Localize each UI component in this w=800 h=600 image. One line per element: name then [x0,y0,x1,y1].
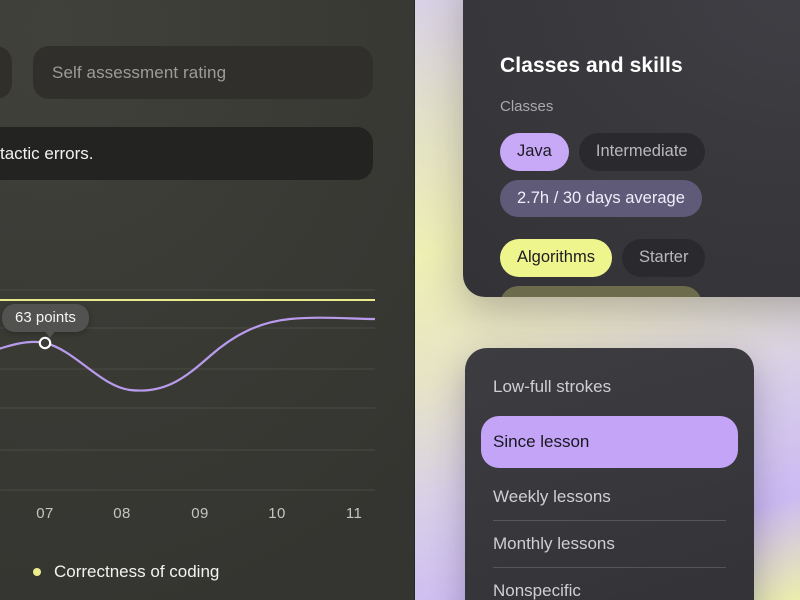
menu-item-monthly-lessons[interactable]: Monthly lessons [481,521,738,567]
classes-card-title: Classes and skills [500,54,800,78]
app-root: Self assessment rating tactic errors. Si… [0,0,800,600]
class-average-row-algorithms: 1.5h / 30 days average [500,286,800,298]
chart-data-point-marker [40,338,50,348]
chart-legend: Correctness of coding [33,562,219,582]
class-average-pill-java[interactable]: 2.7h / 30 days average [500,180,702,218]
syntactic-errors-field[interactable]: tactic errors. [0,127,373,180]
classes-and-skills-card: Classes and skills Classes Java Intermed… [463,0,800,297]
self-assessment-rating-input[interactable]: Self assessment rating [33,46,373,99]
x-tick-3: 10 [268,505,286,522]
class-name-pill-java[interactable]: Java [500,133,569,171]
class-level-pill-algorithms[interactable]: Starter [622,239,706,277]
x-tick-1: 08 [113,505,131,522]
class-name-pill-algorithms[interactable]: Algorithms [500,239,612,277]
menu-item-label: Monthly lessons [493,534,615,554]
class-average-pill-algorithms[interactable]: 1.5h / 30 days average [500,286,702,298]
x-tick-4: 11 [346,505,362,522]
self-assessment-rating-placeholder: Self assessment rating [52,63,226,83]
class-level-pill-java[interactable]: Intermediate [579,133,705,171]
chart-point-tooltip-label: 63 points [15,309,76,326]
x-tick-2: 09 [191,505,209,522]
legend-label-correctness: Correctness of coding [54,562,219,582]
chart-point-tooltip: 63 points [2,304,89,332]
range-dropdown-menu: Low-full strokes Since lesson Weekly les… [465,348,754,600]
class-average-row-java: 2.7h / 30 days average [500,180,800,218]
menu-item-label: Weekly lessons [493,487,611,507]
classes-section-label: Classes [500,98,800,115]
menu-item-nonspecific[interactable]: Nonspecific [481,568,738,600]
chart-x-axis: 07 08 09 10 11 [0,505,400,525]
class-row-java: Java Intermediate [500,133,800,171]
menu-item-weekly-lessons[interactable]: Weekly lessons [481,474,738,520]
menu-item-label: Low-full strokes [493,377,611,397]
legend-color-dot [33,568,41,576]
menu-item-low-full-strokes[interactable]: Low-full strokes [481,364,738,410]
menu-item-label: Since lesson [493,432,589,452]
x-tick-0: 07 [36,505,54,522]
syntactic-errors-value: tactic errors. [0,144,94,164]
menu-item-label: Nonspecific [493,581,581,600]
menu-item-since-lesson[interactable]: Since lesson [481,416,738,468]
class-row-algorithms: Algorithms Starter [500,239,800,277]
